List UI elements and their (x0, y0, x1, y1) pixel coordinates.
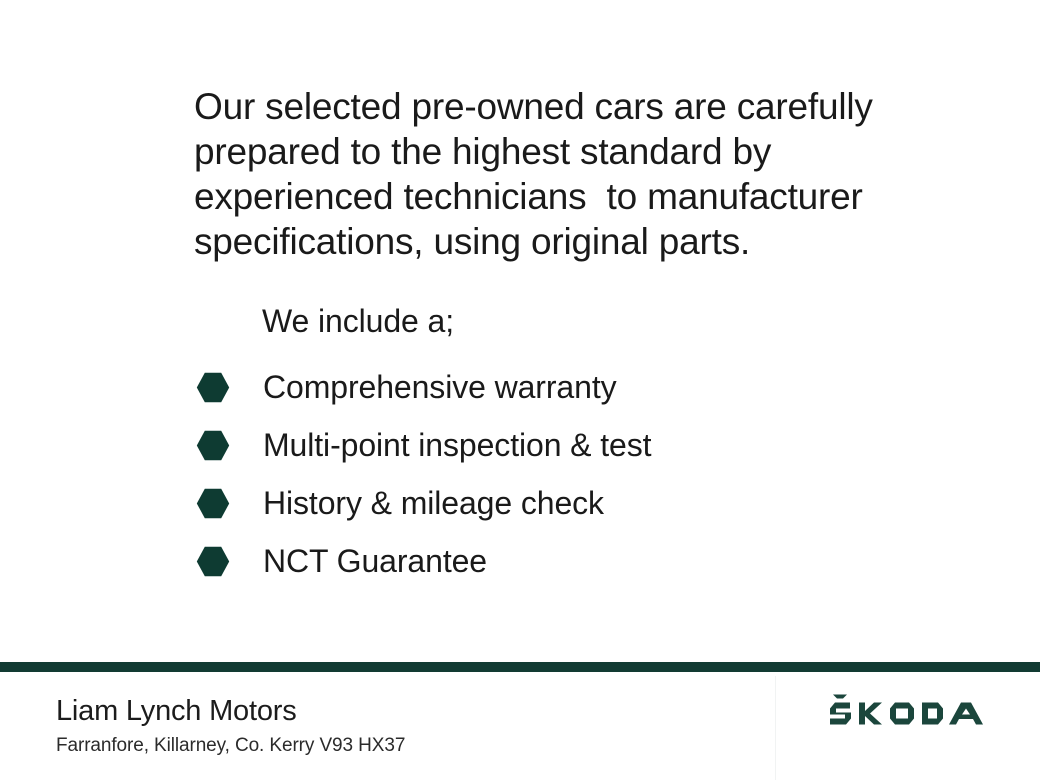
inclusions-list: Comprehensive warranty Multi-point inspe… (196, 358, 956, 590)
hexagon-bullet-icon (196, 372, 230, 403)
list-item: History & mileage check (196, 474, 956, 532)
dealer-name: Liam Lynch Motors (56, 694, 297, 728)
hexagon-bullet-icon (196, 488, 230, 519)
hexagon-bullet-icon (196, 430, 230, 461)
list-item: NCT Guarantee (196, 532, 956, 590)
list-item-label: History & mileage check (263, 484, 604, 522)
list-item-label: NCT Guarantee (263, 542, 487, 580)
dealer-address: Farranfore, Killarney, Co. Kerry V93 HX3… (56, 734, 405, 758)
footer-accent-rule (0, 662, 1040, 672)
promo-slide: Our selected pre-owned cars are carefull… (0, 0, 1040, 780)
list-item: Comprehensive warranty (196, 358, 956, 416)
include-lead-in: We include a; (262, 301, 454, 341)
hexagon-bullet-icon (196, 546, 230, 577)
page-title: Our selected pre-owned cars are carefull… (194, 84, 894, 264)
skoda-wordmark-icon (830, 694, 988, 728)
list-item-label: Comprehensive warranty (263, 368, 617, 406)
footer-vertical-divider (775, 676, 776, 780)
list-item-label: Multi-point inspection & test (263, 426, 651, 464)
list-item: Multi-point inspection & test (196, 416, 956, 474)
